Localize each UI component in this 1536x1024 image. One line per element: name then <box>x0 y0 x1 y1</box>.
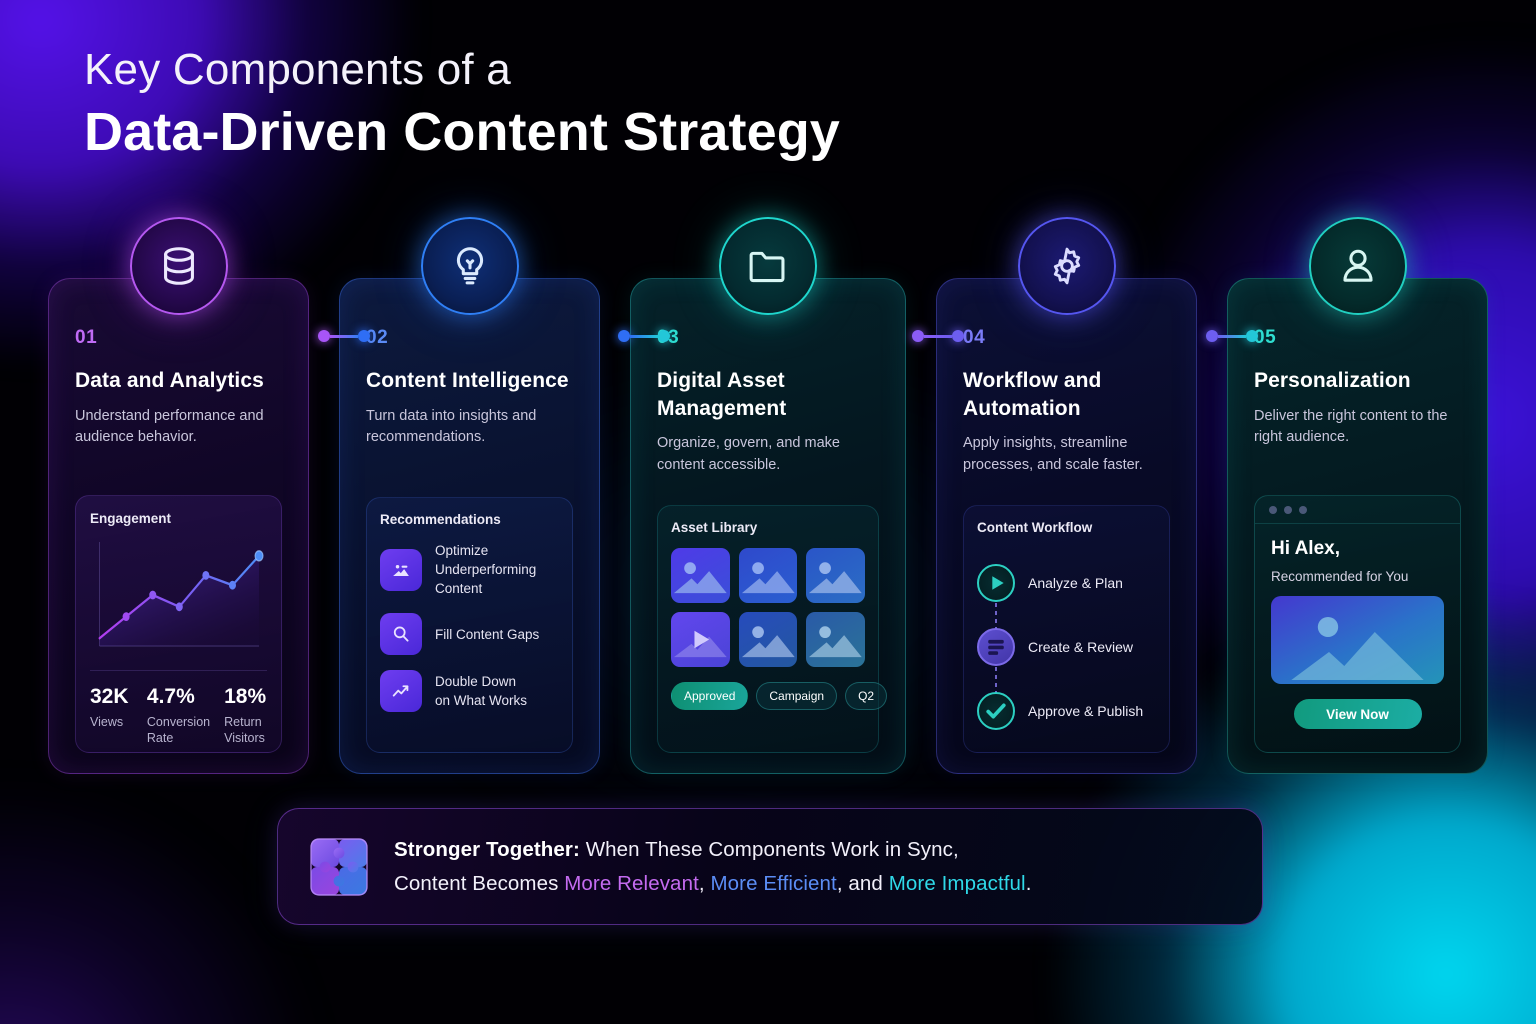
card-title: Workflow and Automation <box>963 367 1170 422</box>
connector-1-2 <box>318 330 370 342</box>
engagement-line-chart <box>90 534 267 662</box>
card-subtitle: Deliver the right content to the right a… <box>1254 406 1461 449</box>
rec-line-1: Fill Content Gaps <box>435 625 539 644</box>
asset-library-panel: Asset Library <box>657 505 879 753</box>
connector-dot-right <box>952 330 964 342</box>
connector-dot-left <box>618 330 630 342</box>
rec-line-2: Underperforming Content <box>435 560 559 598</box>
card-number: 03 <box>657 327 879 349</box>
window-dot <box>1299 506 1307 514</box>
database-icon <box>130 217 228 315</box>
card-data-and-analytics[interactable]: 01 Data and Analytics Understand perform… <box>48 278 309 774</box>
recommended-label: Recommended for You <box>1271 569 1444 584</box>
asset-thumbnail-grid <box>671 548 865 667</box>
play-icon <box>977 564 1015 602</box>
card-number: 04 <box>963 327 1170 349</box>
lightbulb-icon <box>421 217 519 315</box>
check-icon <box>977 692 1015 730</box>
card-subtitle: Turn data into insights and recommendati… <box>366 406 573 449</box>
asset-thumbnail[interactable] <box>806 612 865 667</box>
panel-label: Engagement <box>90 511 267 526</box>
metric-views: 32K Views <box>90 685 133 747</box>
title-line-2: Data-Driven Content Strategy <box>84 100 840 165</box>
list-item[interactable]: Double Down on What Works <box>380 670 559 712</box>
connector-dot-left <box>318 330 330 342</box>
puzzle-icon <box>308 836 370 898</box>
recommendation-list: Optimize Underperforming Content <box>380 541 559 712</box>
metric-label: Return Visitors <box>224 714 267 747</box>
card-personalization[interactable]: 05 Personalization Deliver the right con… <box>1227 278 1488 774</box>
list-item[interactable]: Optimize Underperforming Content <box>380 541 559 598</box>
personalization-preview-panel: Hi Alex, Recommended for You <box>1254 495 1461 753</box>
workflow-step-analyze-plan[interactable]: Analyze & Plan <box>977 551 1156 615</box>
folder-icon <box>719 217 817 315</box>
card-title: Digital Asset Management <box>657 367 879 422</box>
metric-label: Views <box>90 714 133 730</box>
card-content-intelligence[interactable]: 02 Content Intelligence Turn data into i… <box>339 278 600 774</box>
engagement-panel: Engagement <box>75 495 282 753</box>
connector-dot-left <box>1206 330 1218 342</box>
rec-line-2: on What Works <box>435 691 527 710</box>
image-icon <box>380 549 422 591</box>
connector-bar <box>330 335 358 338</box>
view-now-button[interactable]: View Now <box>1294 699 1422 729</box>
summary-banner: Stronger Together: When These Components… <box>277 808 1263 925</box>
search-icon <box>380 613 422 655</box>
connector-bar <box>924 335 952 338</box>
metric-value: 32K <box>90 685 133 709</box>
document-icon <box>977 628 1015 666</box>
workflow-step-label: Approve & Publish <box>1028 703 1143 719</box>
banner-sep-2: , and <box>837 872 889 895</box>
window-dot <box>1284 506 1292 514</box>
connector-bar <box>630 335 658 338</box>
workflow-step-list: Analyze & Plan Create & Review <box>977 551 1156 743</box>
glow-bottom-left <box>0 784 320 1024</box>
banner-end: . <box>1026 872 1032 895</box>
card-number: 05 <box>1254 327 1461 349</box>
list-item[interactable]: Fill Content Gaps <box>380 613 559 655</box>
rec-line-1: Double Down <box>435 672 527 691</box>
window-dot <box>1269 506 1277 514</box>
metric-return-visitors: 18% Return Visitors <box>224 685 267 747</box>
banner-text-2: Content Becomes <box>394 872 564 895</box>
panel-label: Asset Library <box>671 520 865 535</box>
asset-thumbnail[interactable] <box>739 548 798 603</box>
trend-up-icon <box>380 670 422 712</box>
device-frame: Hi Alex, Recommended for You <box>1255 496 1460 752</box>
workflow-step-create-review[interactable]: Create & Review <box>977 615 1156 679</box>
infographic-canvas: Key Components of a Data-Driven Content … <box>0 0 1536 1024</box>
connector-dot-right <box>358 330 370 342</box>
rec-line-1: Optimize <box>435 541 559 560</box>
banner-text: Stronger Together: When These Components… <box>394 833 1032 899</box>
metrics-row: 32K Views 4.7% Conversion Rate 18% Retur… <box>90 670 267 747</box>
connector-bar <box>1218 335 1246 338</box>
banner-sep-1: , <box>699 872 711 895</box>
metric-value: 4.7% <box>147 685 210 709</box>
page-title: Key Components of a Data-Driven Content … <box>84 44 840 165</box>
connector-2-3 <box>618 330 670 342</box>
asset-thumbnail[interactable] <box>739 612 798 667</box>
asset-thumbnail[interactable] <box>806 548 865 603</box>
card-subtitle: Apply insights, streamline processes, an… <box>963 433 1170 476</box>
device-title-bar <box>1255 496 1460 524</box>
tag-campaign[interactable]: Campaign <box>756 682 837 710</box>
card-workflow-and-automation[interactable]: 04 Workflow and Automation Apply insight… <box>936 278 1197 774</box>
banner-text-1: When These Components Work in Sync, <box>580 838 959 861</box>
highlight-more-relevant: More Relevant <box>564 872 699 895</box>
list-item-label: Double Down on What Works <box>435 672 527 710</box>
component-card-rail: 01 Data and Analytics Understand perform… <box>48 278 1488 774</box>
metric-label: Conversion Rate <box>147 714 210 747</box>
highlight-more-impactful: More Impactful <box>889 872 1026 895</box>
card-title: Content Intelligence <box>366 367 573 395</box>
user-icon <box>1309 217 1407 315</box>
connector-4-5 <box>1206 330 1258 342</box>
card-number: 01 <box>75 327 282 349</box>
card-title: Personalization <box>1254 367 1461 395</box>
banner-line-1: Stronger Together: When These Components… <box>394 833 1032 866</box>
asset-thumbnail[interactable] <box>671 548 730 603</box>
asset-thumbnail-video[interactable] <box>671 612 730 667</box>
recommended-hero-image <box>1271 596 1444 684</box>
tag-q2[interactable]: Q2 <box>845 682 887 710</box>
metric-value: 18% <box>224 685 267 709</box>
card-digital-asset-management[interactable]: 03 Digital Asset Management Organize, go… <box>630 278 906 774</box>
card-title: Data and Analytics <box>75 367 282 395</box>
list-item-label: Fill Content Gaps <box>435 625 539 644</box>
panel-label: Content Workflow <box>977 520 1156 535</box>
card-subtitle: Organize, govern, and make content acces… <box>657 433 879 476</box>
workflow-step-label: Create & Review <box>1028 639 1133 655</box>
tag-approved[interactable]: Approved <box>671 682 748 710</box>
gear-icon <box>1018 217 1116 315</box>
panel-label: Recommendations <box>380 512 559 527</box>
connector-dot-left <box>912 330 924 342</box>
list-item-label: Optimize Underperforming Content <box>435 541 559 598</box>
card-subtitle: Understand performance and audience beha… <box>75 406 282 449</box>
recommendations-panel: Recommendations Optimize Underp <box>366 497 573 753</box>
highlight-more-efficient: More Efficient <box>710 872 836 895</box>
content-workflow-panel: Content Workflow Analyze & Plan <box>963 505 1170 753</box>
connector-3-4 <box>912 330 964 342</box>
metric-conversion-rate: 4.7% Conversion Rate <box>147 685 210 747</box>
card-number: 02 <box>366 327 573 349</box>
connector-dot-right <box>1246 330 1258 342</box>
title-line-1: Key Components of a <box>84 44 840 96</box>
banner-lead: Stronger Together: <box>394 838 580 861</box>
greeting-text: Hi Alex, <box>1271 538 1444 560</box>
asset-tag-row: Approved Campaign Q2 <box>671 682 865 710</box>
banner-line-2: Content Becomes More Relevant, More Effi… <box>394 867 1032 900</box>
workflow-step-approve-publish[interactable]: Approve & Publish <box>977 679 1156 743</box>
workflow-step-label: Analyze & Plan <box>1028 575 1123 591</box>
connector-dot-right <box>658 330 670 342</box>
